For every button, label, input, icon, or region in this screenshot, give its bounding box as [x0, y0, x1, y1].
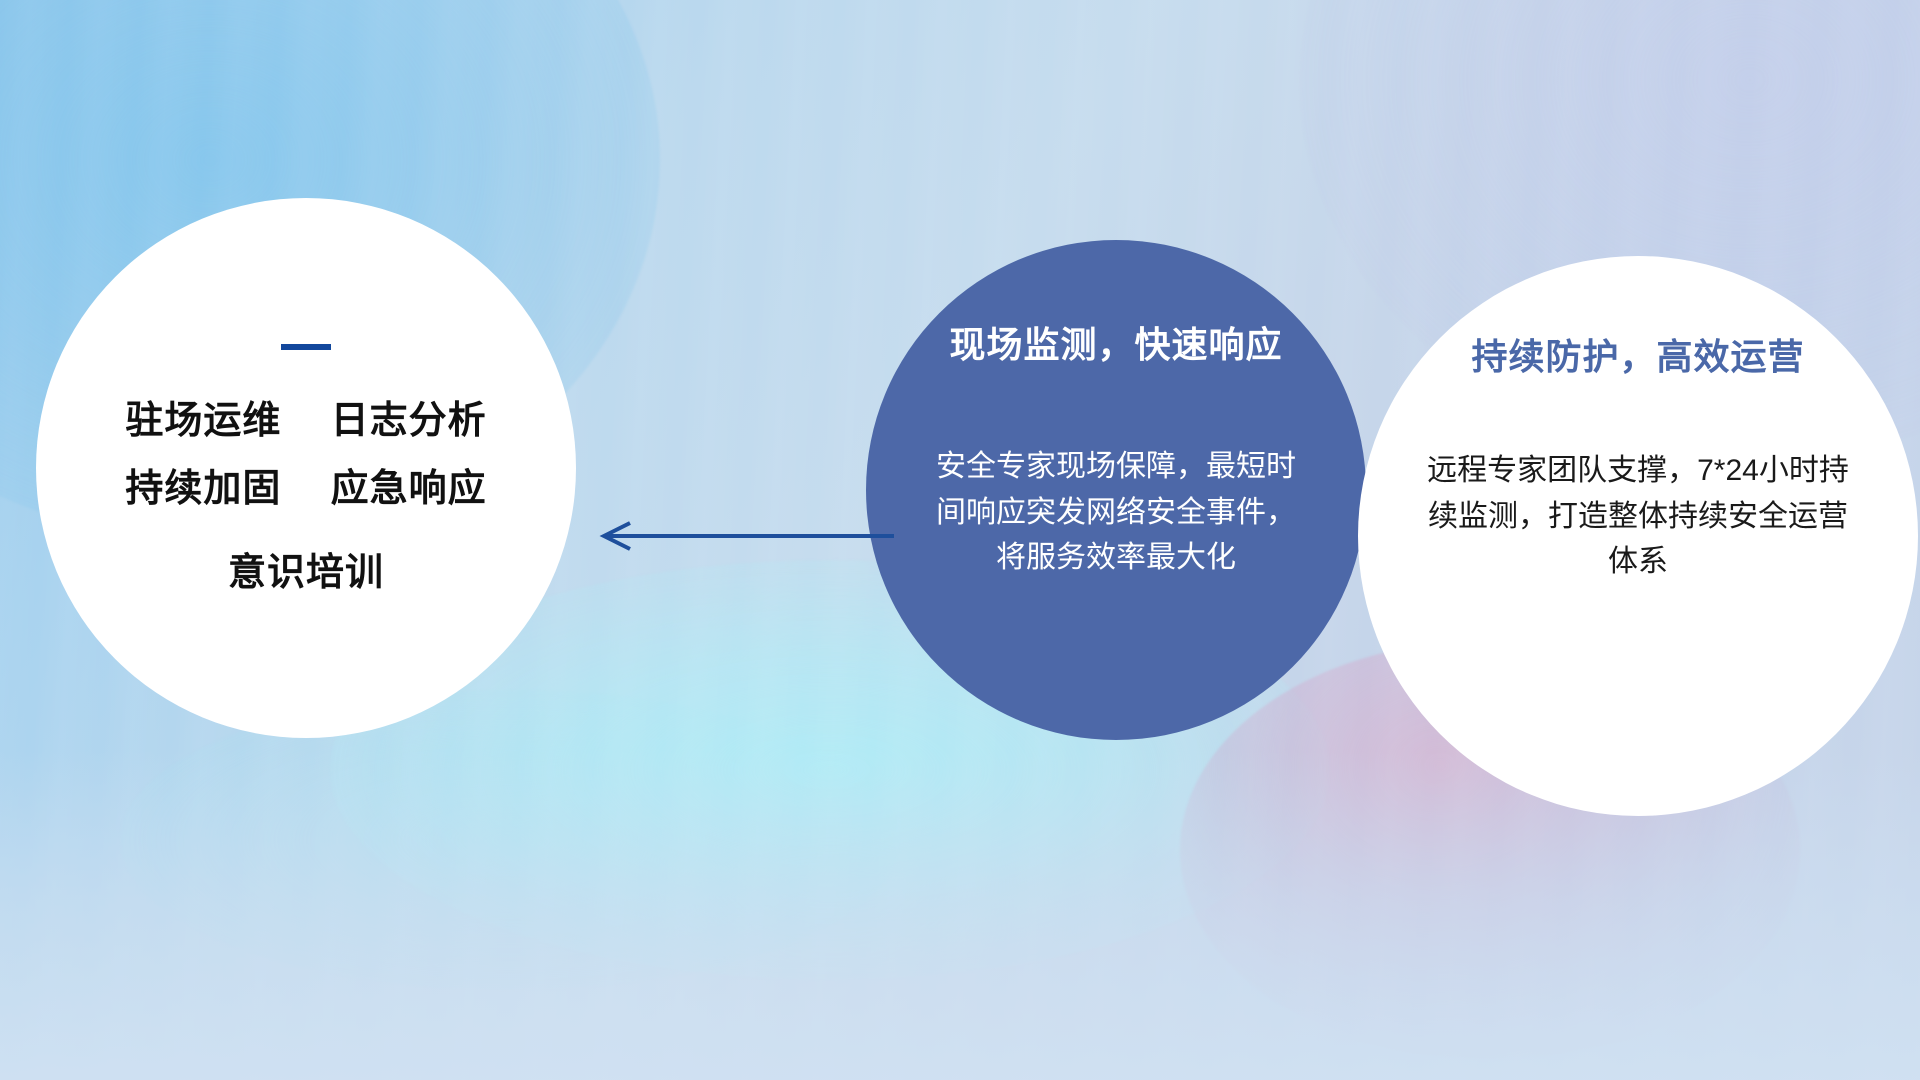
onsite-monitoring-content: 现场监测，快速响应 安全专家现场保障，最短时间响应突发网络安全事件，将服务效率最… — [866, 240, 1366, 740]
continuous-protection-title: 持续防护，高效运营 — [1471, 328, 1804, 380]
service-row-2: 持续加固 应急响应 — [125, 470, 486, 508]
onsite-monitoring-body: 安全专家现场保障，最短时间响应突发网络安全事件，将服务效率最大化 — [931, 444, 1301, 581]
continuous-protection-body: 远程专家团队支撑，7*24小时持续监测，打造整体持续安全运营体系 — [1423, 448, 1853, 585]
divider-rule — [281, 344, 331, 350]
service-row-1: 驻场运维 日志分析 — [125, 402, 486, 440]
leftward-flow-arrow — [596, 516, 896, 556]
service-label-onsite-ops: 驻场运维 — [125, 400, 281, 442]
service-label-awareness-training: 意识培训 — [228, 552, 384, 594]
service-label-emergency-response: 应急响应 — [331, 468, 487, 510]
service-label-log-analysis: 日志分析 — [331, 400, 487, 442]
services-circle-content: 驻场运维 日志分析 持续加固 应急响应 意识培训 — [36, 198, 576, 738]
service-row-3: 意识培训 — [228, 554, 384, 592]
continuous-protection-content: 持续防护，高效运营 远程专家团队支撑，7*24小时持续监测，打造整体持续安全运营… — [1358, 256, 1918, 816]
onsite-monitoring-title: 现场监测，快速响应 — [949, 316, 1282, 368]
service-label-continuous-hardening: 持续加固 — [125, 468, 281, 510]
